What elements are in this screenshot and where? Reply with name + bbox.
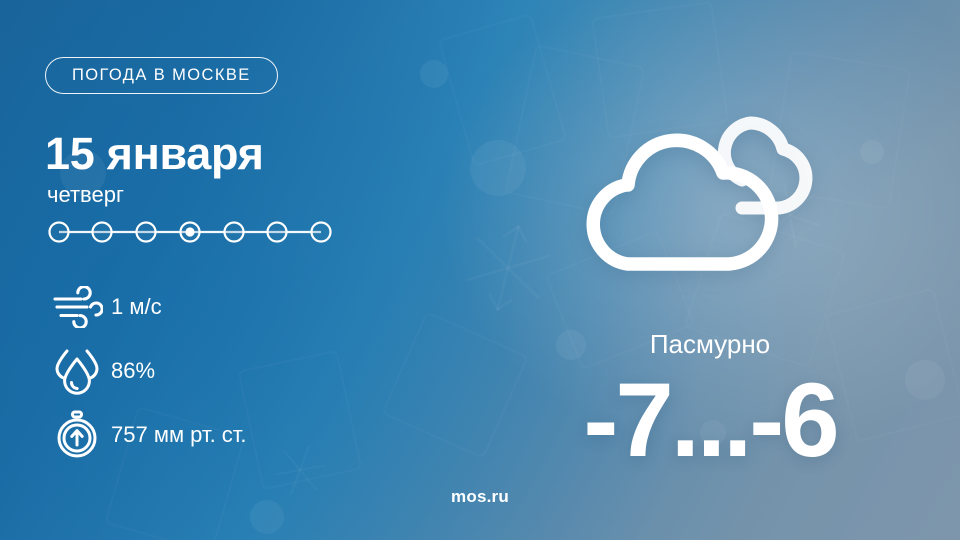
humidity-icon — [45, 347, 111, 395]
pressure-value: 757 мм рт. ст. — [111, 422, 247, 448]
week-dot — [312, 223, 331, 242]
metric-pressure: 757 мм рт. ст. — [45, 409, 445, 461]
pressure-icon — [45, 410, 111, 460]
week-progress — [45, 216, 335, 248]
wind-icon — [45, 286, 111, 328]
metric-wind: 1 м/с — [45, 281, 445, 333]
week-dot — [225, 223, 244, 242]
weather-card: ПОГОДА В МОСКВЕ 15 января четверг — [0, 0, 960, 540]
temperature-value: -7...-6 — [480, 368, 940, 473]
city-badge-label: ПОГОДА В МОСКВЕ — [72, 66, 251, 85]
weekday-label: четверг — [47, 182, 124, 208]
city-badge: ПОГОДА В МОСКВЕ — [45, 57, 278, 94]
wind-value: 1 м/с — [111, 294, 162, 320]
humidity-value: 86% — [111, 358, 155, 384]
overcast-clouds-icon — [566, 96, 876, 296]
condition-label: Пасмурно — [500, 329, 920, 360]
week-dot — [268, 223, 287, 242]
week-dot — [93, 223, 112, 242]
week-dot — [137, 223, 156, 242]
week-dot — [50, 223, 69, 242]
source-label: mos.ru — [0, 487, 960, 507]
info-panel: ПОГОДА В МОСКВЕ 15 января четверг — [45, 0, 465, 540]
page-title: 15 января — [45, 128, 264, 180]
metric-humidity: 86% — [45, 345, 445, 397]
week-dot-active-fill — [185, 227, 194, 236]
